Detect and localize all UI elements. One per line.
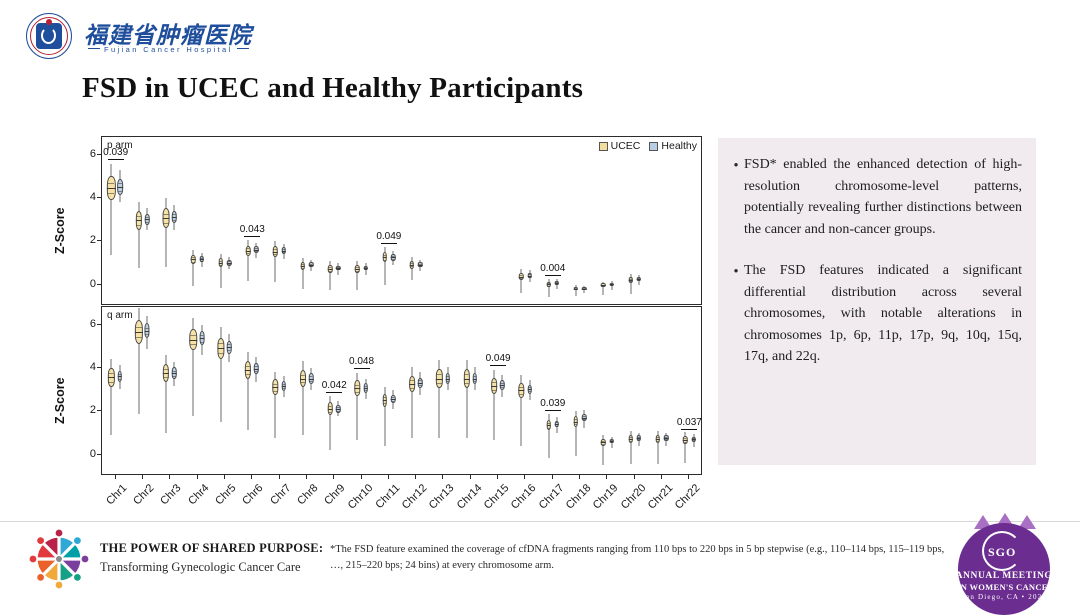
pvalue-bracket <box>490 365 506 366</box>
x-tick <box>634 475 635 479</box>
y-tick-label: 2 <box>61 234 101 246</box>
pvalue-bracket <box>545 410 561 411</box>
hospital-name-en: Fujian Cancer Hospital <box>84 45 253 54</box>
x-tick <box>606 475 607 479</box>
pvalue-label: 0.048 <box>349 356 374 367</box>
y-tick-label: 0 <box>61 448 101 460</box>
y-tick-label: 4 <box>61 361 101 373</box>
y-tick-label: 6 <box>61 148 101 160</box>
y-tick-label: 4 <box>61 191 101 203</box>
pvalue-bracket <box>545 275 561 276</box>
fsd-violin-chart: Z-Score Z-Score 0246 0246 p arm UCEC Hea… <box>57 136 702 521</box>
sgo-line-2: ON WOMEN'S CANCER <box>952 582 1056 592</box>
y-tick-label: 0 <box>61 278 101 290</box>
pvalue-bracket <box>381 243 397 244</box>
footnote-text: *The FSD feature examined the coverage o… <box>330 542 950 574</box>
pvalue-bracket <box>354 368 370 369</box>
list-item: • FSD* enabled the enhanced detection of… <box>728 154 1022 240</box>
y-tick-label: 2 <box>61 404 101 416</box>
pvalue-label: 0.004 <box>540 263 565 274</box>
x-tick <box>251 475 252 479</box>
x-tick <box>524 475 525 479</box>
x-tick <box>688 475 689 479</box>
sgo-conference-logo: SGO ANNUAL MEETING ON WOMEN'S CANCER San… <box>952 515 1056 608</box>
bullet-icon: • <box>728 154 744 240</box>
x-tick <box>661 475 662 479</box>
x-tick <box>442 475 443 479</box>
plot-area-q-arm: 0.0420.0480.0490.0390.037 <box>102 307 701 474</box>
x-tick <box>388 475 389 479</box>
chart-panel-q-arm: q arm 0.0420.0480.0490.0390.037 <box>101 306 702 475</box>
pvalue-bracket <box>326 392 342 393</box>
hospital-emblem-icon <box>26 13 72 59</box>
sgo-line-3: San Diego, CA • 2024 <box>952 593 1056 601</box>
x-tick <box>497 475 498 479</box>
pvalue-label: 0.039 <box>103 147 128 158</box>
pvalue-label: 0.043 <box>240 224 265 235</box>
bullet-text: The FSD features indicated a significant… <box>744 260 1022 368</box>
pvalue-label: 0.039 <box>540 398 565 409</box>
x-tick <box>224 475 225 479</box>
pvalue-label: 0.049 <box>376 231 401 242</box>
hospital-name-en-text: Fujian Cancer Hospital <box>104 45 233 54</box>
pvalue-label: 0.042 <box>322 380 347 391</box>
sgo-line-1: ANNUAL MEETING <box>952 571 1056 581</box>
y-tick-label: 6 <box>61 318 101 330</box>
plot-area-p-arm: 0.0390.0430.0490.004 <box>102 137 701 304</box>
pinwheel-logo-icon <box>28 528 90 590</box>
x-tick <box>579 475 580 479</box>
pvalue-label: 0.049 <box>486 353 511 364</box>
footer-tagline-secondary: Transforming Gynecologic Cancer Care <box>100 560 301 575</box>
bullet-icon: • <box>728 260 744 368</box>
list-item: • The FSD features indicated a significa… <box>728 260 1022 368</box>
x-tick <box>552 475 553 479</box>
pvalue-bracket <box>244 236 260 237</box>
x-tick <box>169 475 170 479</box>
x-tick <box>142 475 143 479</box>
x-tick <box>197 475 198 479</box>
findings-panel: • FSD* enabled the enhanced detection of… <box>718 138 1036 465</box>
footer-divider <box>0 521 1080 522</box>
y-axis-ticks-p-arm: 0246 <box>57 136 101 305</box>
pvalue-bracket <box>681 429 697 430</box>
pvalue-label: 0.037 <box>677 417 702 428</box>
slide-header: 福建省肿瘤医院 Fujian Cancer Hospital <box>0 0 1080 68</box>
pvalue-bracket <box>108 159 124 160</box>
x-tick <box>415 475 416 479</box>
x-tick <box>115 475 116 479</box>
sgo-mark-text: SGO <box>988 545 1016 560</box>
chart-panel-p-arm: p arm UCEC Healthy 0.0390.0430.0490.004 <box>101 136 702 305</box>
y-axis-ticks-q-arm: 0246 <box>57 306 101 475</box>
page-title: FSD in UCEC and Healthy Participants <box>82 72 583 105</box>
x-axis: Chr1Chr2Chr3Chr4Chr5Chr6Chr7Chr8Chr9Chr1… <box>101 475 702 521</box>
x-tick <box>361 475 362 479</box>
x-tick <box>306 475 307 479</box>
bullet-text: FSD* enabled the enhanced detection of h… <box>744 154 1022 240</box>
x-tick <box>333 475 334 479</box>
x-tick <box>279 475 280 479</box>
footer-tagline-primary: THE POWER OF SHARED PURPOSE: <box>100 541 323 556</box>
x-tick <box>470 475 471 479</box>
